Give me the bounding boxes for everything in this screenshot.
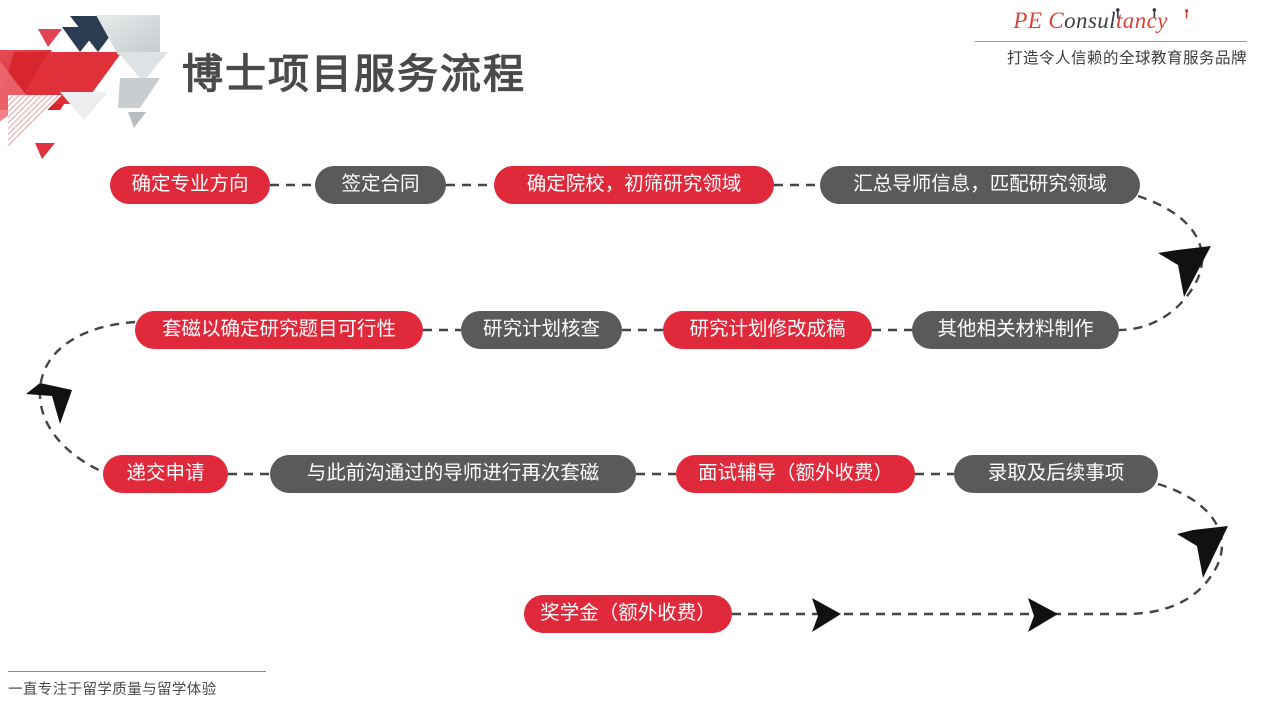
flow-step-label: 面试辅导（额外收费） (698, 464, 893, 484)
slide-canvas: 博士项目服务流程 PE Consultancy 打造令人信赖的全球教育服务品牌 (0, 0, 1261, 709)
flow-step-label: 递交申请 (126, 464, 204, 484)
footer: 一直专注于留学质量与留学体验 (8, 671, 266, 699)
flow-step-10[interactable]: 与此前沟通过的导师进行再次套磁 (270, 455, 636, 493)
flow-step-label: 确定专业方向 (131, 175, 248, 195)
flow-step-label: 套磁以确定研究题目可行性 (162, 320, 396, 340)
arrowheads (26, 246, 1228, 632)
flow-step-label: 研究计划修改成稿 (689, 320, 845, 340)
flow-step-13[interactable]: 奖学金（额外收费） (524, 595, 732, 633)
flow-step-11[interactable]: 面试辅导（额外收费） (676, 455, 915, 493)
flow-step-2[interactable]: 签定合同 (315, 166, 446, 204)
flow-step-5[interactable]: 套磁以确定研究题目可行性 (135, 311, 423, 349)
arrowhead-row2-row3 (26, 383, 72, 424)
flow-step-6[interactable]: 研究计划核查 (461, 311, 622, 349)
flow-step-1[interactable]: 确定专业方向 (110, 166, 270, 204)
flow-step-9[interactable]: 递交申请 (103, 455, 228, 493)
flow-step-label: 与此前沟通过的导师进行再次套磁 (307, 464, 600, 484)
flow-step-12[interactable]: 录取及后续事项 (954, 455, 1158, 493)
flow-step-label: 汇总导师信息，匹配研究领域 (853, 175, 1107, 195)
footer-text: 一直专注于留学质量与留学体验 (8, 678, 266, 699)
flow-step-label: 签定合同 (341, 175, 419, 195)
flow-step-label: 录取及后续事项 (988, 464, 1125, 484)
flow-step-label: 确定院校，初筛研究领域 (527, 175, 742, 195)
arrowhead-row1-row2 (1158, 246, 1211, 297)
footer-divider (8, 671, 266, 672)
flow-step-7[interactable]: 研究计划修改成稿 (663, 311, 872, 349)
flow-step-label: 其他相关材料制作 (937, 320, 1093, 340)
flow-step-3[interactable]: 确定院校，初筛研究领域 (494, 166, 774, 204)
flow-step-8[interactable]: 其他相关材料制作 (912, 311, 1119, 349)
arrowhead-row4-b (1028, 598, 1058, 632)
flow-step-4[interactable]: 汇总导师信息，匹配研究领域 (820, 166, 1140, 204)
flow-step-label: 研究计划核查 (483, 320, 600, 340)
flow-step-label: 奖学金（额外收费） (540, 604, 716, 624)
